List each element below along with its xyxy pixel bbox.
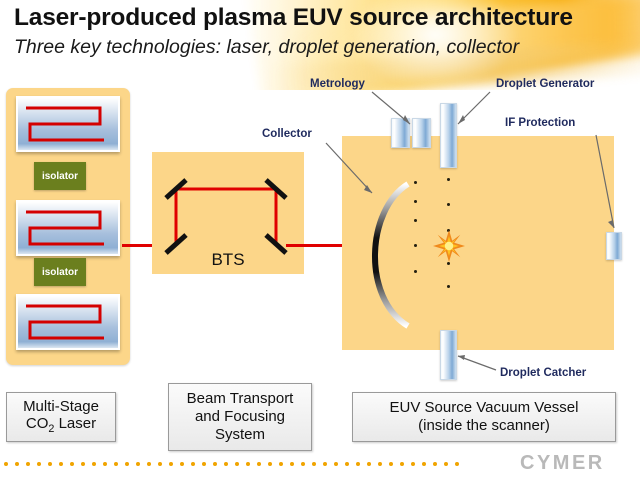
caption-laser-line1: Multi-Stage: [23, 398, 99, 415]
footer-dot: [81, 462, 85, 466]
label-metrology: Metrology: [310, 78, 365, 90]
footer-dot: [411, 462, 415, 466]
caption-multi-stage-laser: Multi-Stage CO2 Laser: [6, 392, 116, 442]
footer-dot: [367, 462, 371, 466]
caption-laser-line2-pre: CO: [26, 415, 49, 432]
label-collector: Collector: [262, 128, 312, 140]
footer-dot: [158, 462, 162, 466]
footer-dot: [48, 462, 52, 466]
footer-dot-rule: [0, 462, 470, 470]
caption-bts-line2: and Focusing: [195, 408, 285, 425]
footer-dot: [257, 462, 261, 466]
footer-dot: [202, 462, 206, 466]
footer-dot: [114, 462, 118, 466]
label-droplet-catcher: Droplet Catcher: [500, 367, 586, 379]
footer-dot: [169, 462, 173, 466]
footer-dot: [246, 462, 250, 466]
slide-canvas: Laser-produced plasma EUV source archite…: [0, 0, 640, 480]
footer-dot: [136, 462, 140, 466]
caption-vessel-line2: (inside the scanner): [418, 417, 550, 434]
footer-dot: [180, 462, 184, 466]
footer-dot: [312, 462, 316, 466]
footer-dot: [103, 462, 107, 466]
footer-dot: [400, 462, 404, 466]
label-if-protection: IF Protection: [505, 117, 575, 129]
footer-dot: [279, 462, 283, 466]
footer-dot: [4, 462, 8, 466]
footer-dot: [455, 462, 459, 466]
caption-beam-transport: Beam Transport and Focusing System: [168, 383, 312, 451]
caption-laser-line2-post: Laser: [54, 415, 96, 432]
footer-dot: [301, 462, 305, 466]
footer-dot: [334, 462, 338, 466]
footer-dot: [59, 462, 63, 466]
caption-bts-line3: System: [215, 426, 265, 443]
cymer-logo: CYMER: [520, 452, 605, 475]
footer-dot: [389, 462, 393, 466]
footer-dot: [70, 462, 74, 466]
footer-dot: [92, 462, 96, 466]
footer-dot: [422, 462, 426, 466]
footer-dot: [433, 462, 437, 466]
footer-dot: [290, 462, 294, 466]
footer-dot: [323, 462, 327, 466]
footer-dot: [37, 462, 41, 466]
label-droplet-generator: Droplet Generator: [496, 78, 594, 90]
footer-dot: [125, 462, 129, 466]
footer-dot: [213, 462, 217, 466]
footer-dot: [26, 462, 30, 466]
footer-dot: [444, 462, 448, 466]
caption-vacuum-vessel: EUV Source Vacuum Vessel (inside the sca…: [352, 392, 616, 442]
footer-dot: [191, 462, 195, 466]
footer-dot: [235, 462, 239, 466]
footer-dot: [147, 462, 151, 466]
caption-bts-line1: Beam Transport: [187, 390, 294, 407]
footer-dot: [15, 462, 19, 466]
footer-dot: [345, 462, 349, 466]
footer-dot: [224, 462, 228, 466]
footer-dot: [378, 462, 382, 466]
footer-dot: [268, 462, 272, 466]
caption-vessel-line1: EUV Source Vacuum Vessel: [390, 399, 579, 416]
footer-dot: [356, 462, 360, 466]
